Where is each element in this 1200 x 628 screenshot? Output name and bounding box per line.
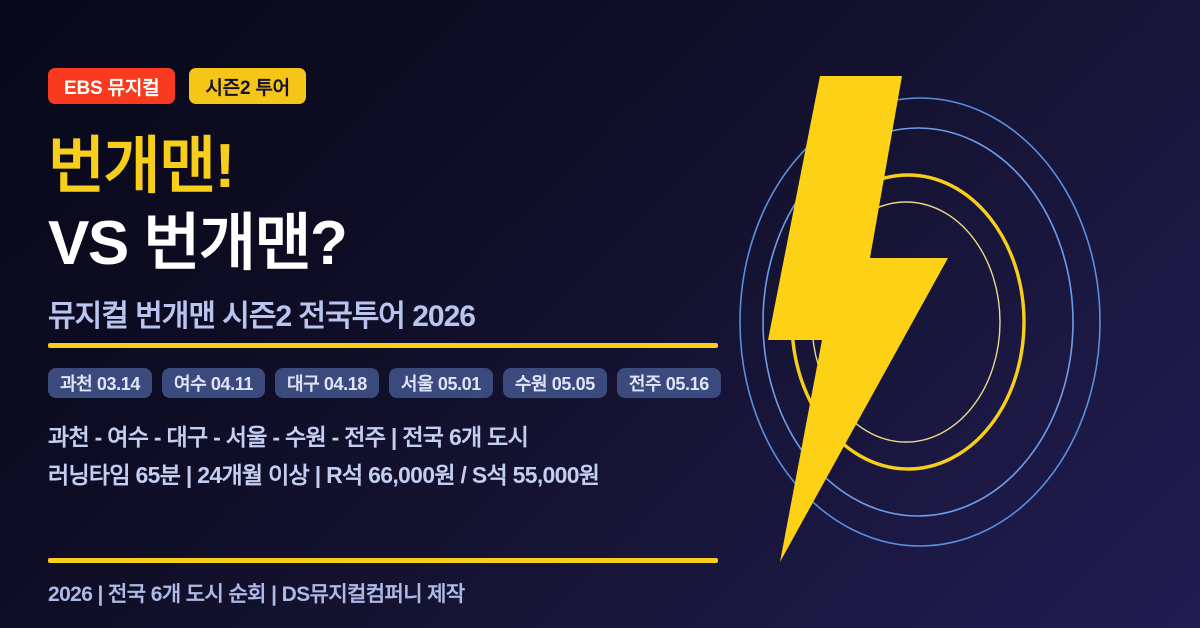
divider-bottom bbox=[48, 558, 718, 563]
lightning-bolt-icon bbox=[768, 76, 948, 562]
ring-inner-yellow bbox=[792, 175, 1024, 469]
poster-title-line2: VS 번개맨? bbox=[48, 213, 346, 275]
tour-date-chip-seoul: 서울 05.01 bbox=[389, 368, 493, 398]
tour-date-chip-gwacheon: 과천 03.14 bbox=[48, 368, 152, 398]
badge-season2-tour: 시즌2 투어 bbox=[189, 68, 306, 104]
ring-core-yellow bbox=[812, 202, 1000, 442]
poster-footer: 2026 | 전국 6개 도시 순회 | DS뮤지컬컴퍼니 제작 bbox=[48, 578, 465, 608]
ring-mid-blue bbox=[763, 128, 1073, 516]
tour-date-chip-jeonju: 전주 05.16 bbox=[617, 368, 721, 398]
divider-top bbox=[48, 343, 718, 348]
badge-row: EBS 뮤지컬 시즌2 투어 bbox=[48, 68, 306, 104]
badge-ebs-musical: EBS 뮤지컬 bbox=[48, 68, 175, 104]
event-poster: EBS 뮤지컬 시즌2 투어 번개맨! VS 번개맨? 뮤지컬 번개맨 시즌2 … bbox=[0, 0, 1200, 628]
detail-line-cities: 과천 - 여수 - 대구 - 서울 - 수원 - 전주 | 전국 6개 도시 bbox=[48, 418, 599, 456]
poster-subtitle: 뮤지컬 번개맨 시즌2 전국투어 2026 bbox=[48, 300, 475, 333]
ring-outer-blue bbox=[740, 98, 1100, 546]
poster-title-line1: 번개맨! bbox=[48, 136, 234, 198]
detail-block: 과천 - 여수 - 대구 - 서울 - 수원 - 전주 | 전국 6개 도시 러… bbox=[48, 418, 599, 494]
tour-date-chip-daegu: 대구 04.18 bbox=[275, 368, 379, 398]
tour-date-chip-suwon: 수원 05.05 bbox=[503, 368, 607, 398]
lightning-artwork bbox=[730, 0, 1200, 628]
tour-date-chip-row: 과천 03.14 여수 04.11 대구 04.18 서울 05.01 수원 0… bbox=[48, 368, 721, 398]
detail-line-info: 러닝타임 65분 | 24개월 이상 | R석 66,000원 / S석 55,… bbox=[48, 456, 599, 494]
tour-date-chip-yeosu: 여수 04.11 bbox=[162, 368, 265, 398]
poster-content: EBS 뮤지컬 시즌2 투어 번개맨! VS 번개맨? 뮤지컬 번개맨 시즌2 … bbox=[48, 0, 748, 628]
